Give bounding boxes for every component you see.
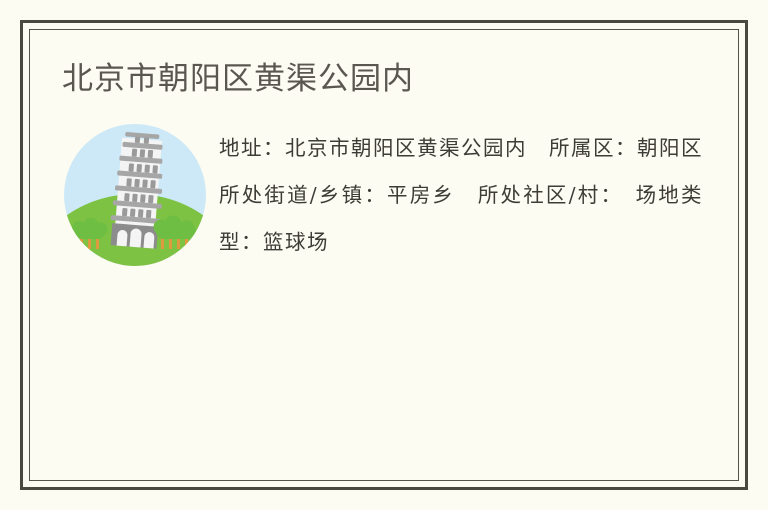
page-title: 北京市朝阳区黄渠公园内 — [62, 57, 709, 101]
venue-info-card: 北京市朝阳区黄渠公园内 — [0, 0, 768, 510]
card-body: 地址：北京市朝阳区黄渠公园内 所属区：朝阳区 所处街道/乡镇：平房乡 所处社区/… — [59, 115, 709, 287]
leaning-tower-park-illustration — [61, 121, 209, 269]
card-content: 北京市朝阳区黄渠公园内 — [29, 29, 739, 481]
venue-details-paragraph: 地址：北京市朝阳区黄渠公园内 所属区：朝阳区 所处街道/乡镇：平房乡 所处社区/… — [219, 125, 709, 266]
